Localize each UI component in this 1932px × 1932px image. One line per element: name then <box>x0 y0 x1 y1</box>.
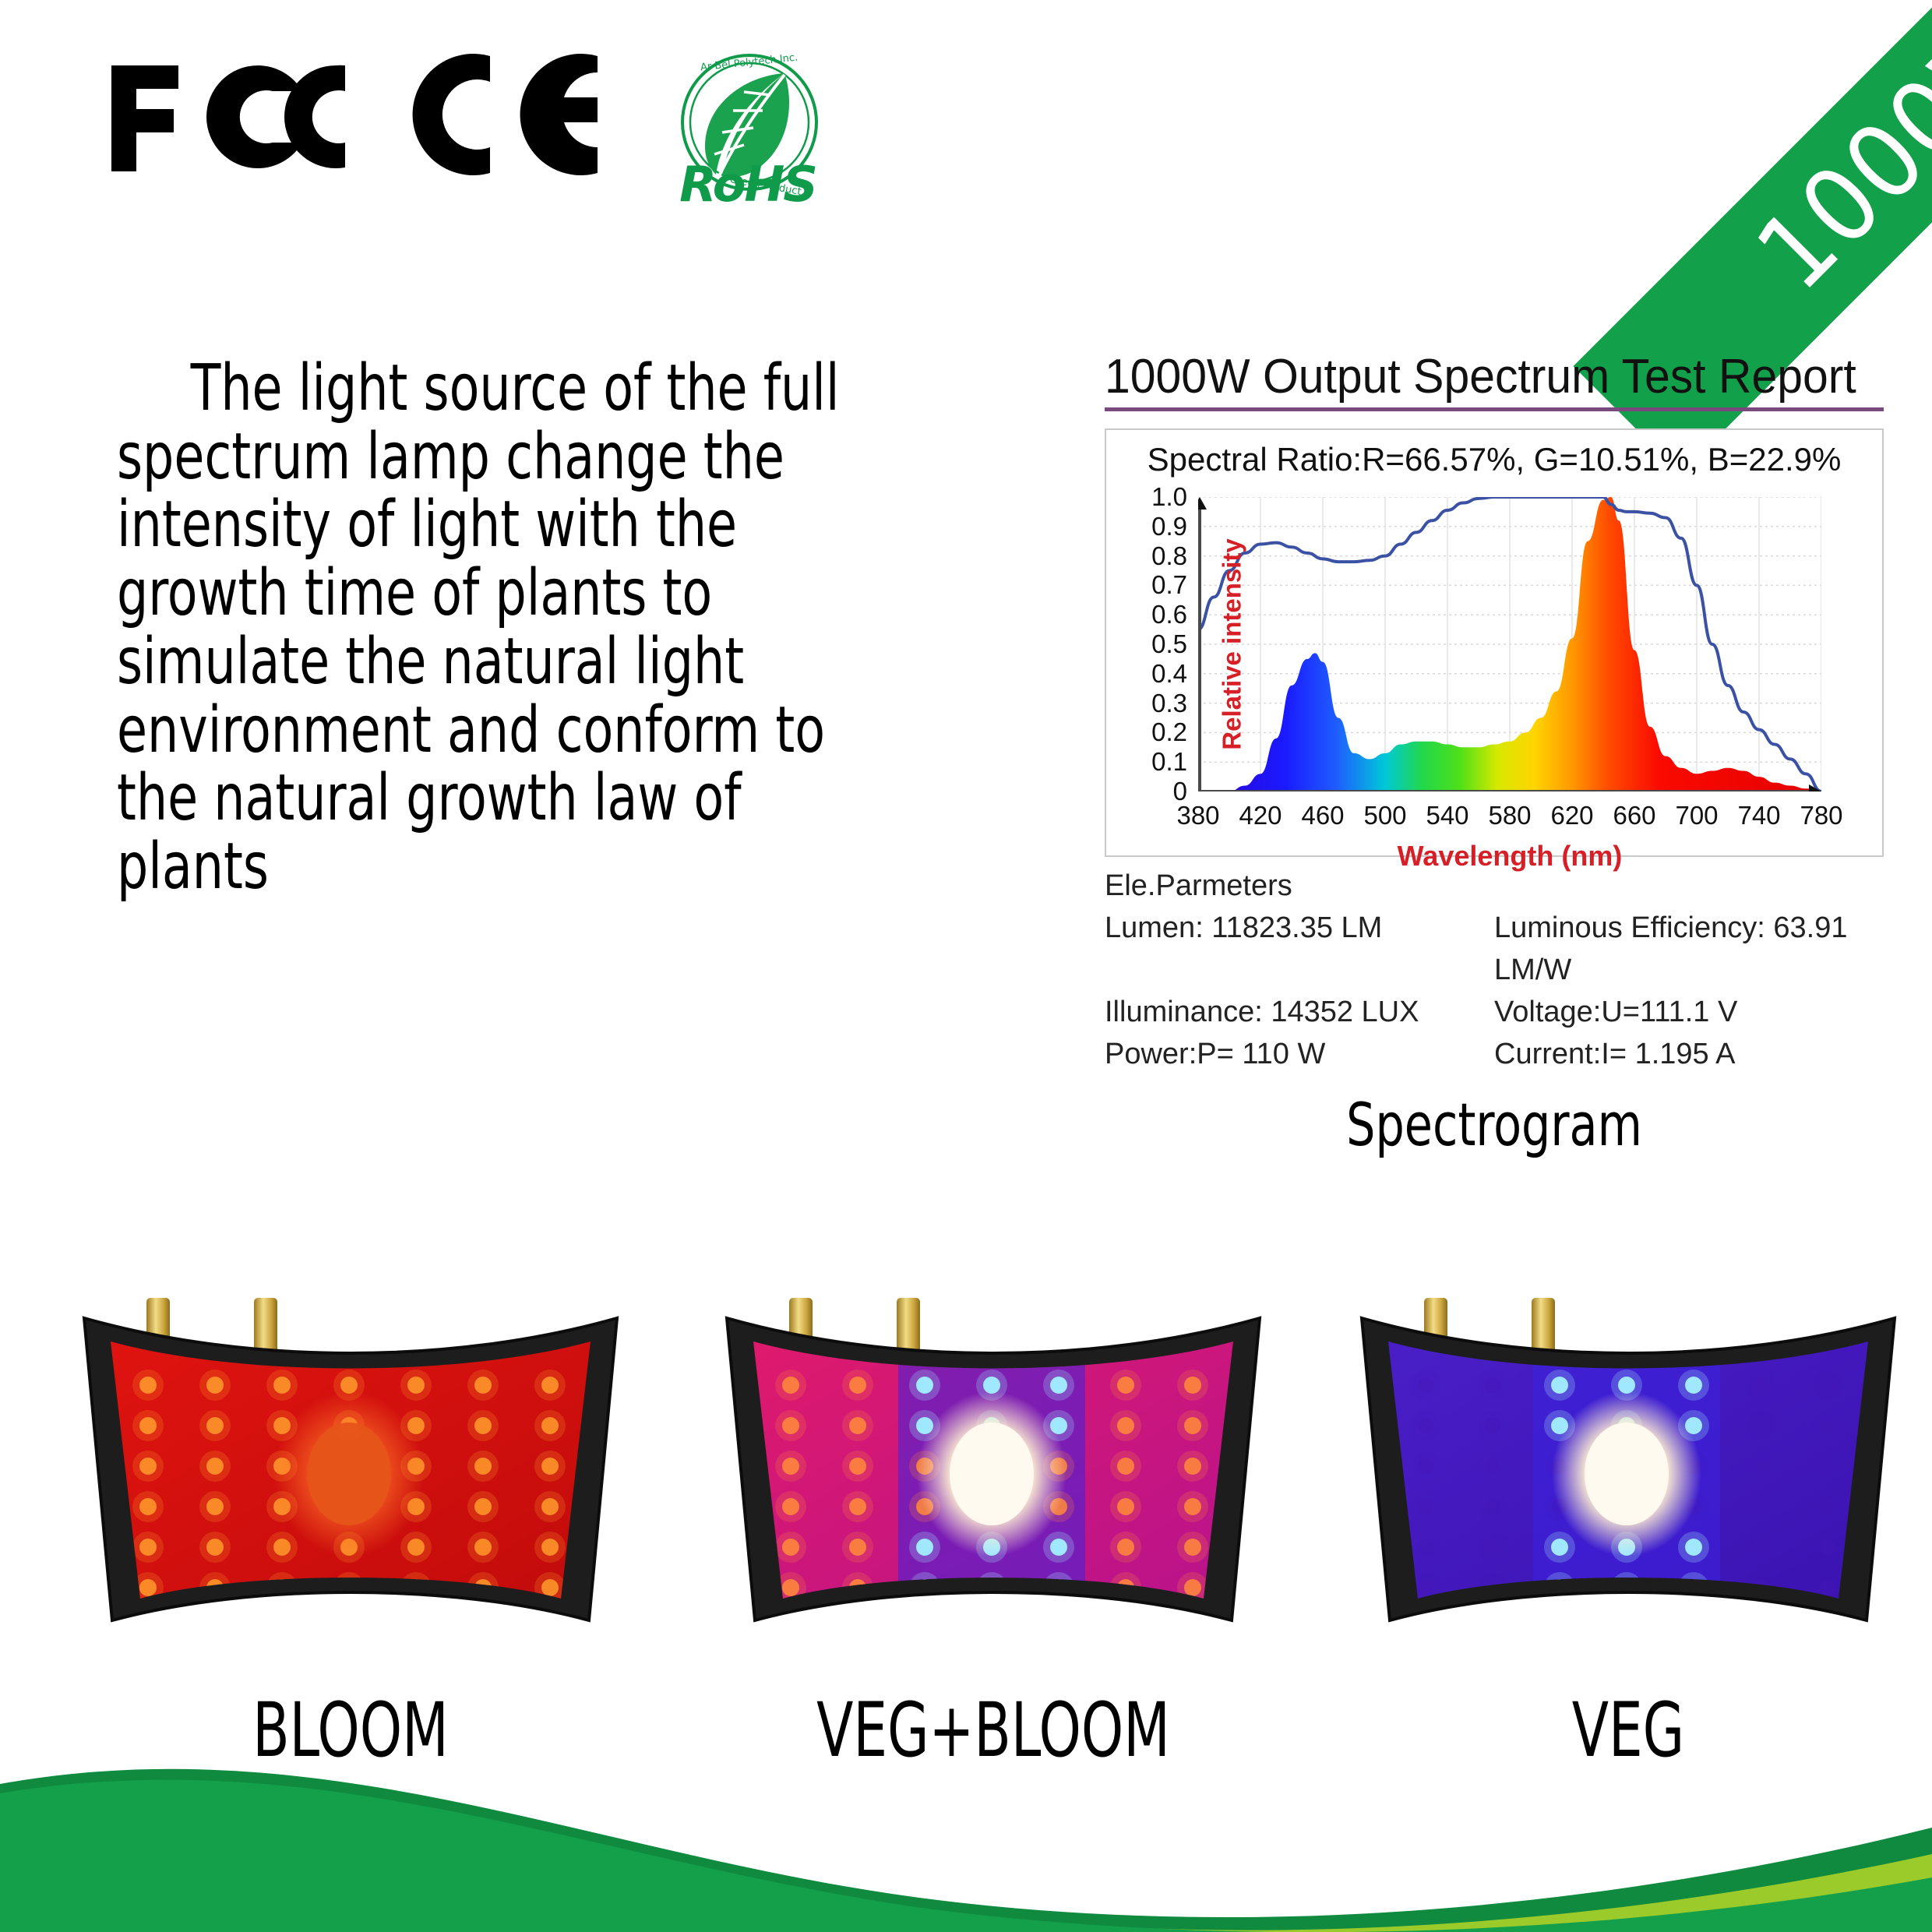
spectrogram-caption: Spectrogram <box>1159 1090 1829 1159</box>
x-tick-label: 460 <box>1301 801 1344 830</box>
ce-icon <box>398 48 608 181</box>
y-tick-label: 0.5 <box>1151 629 1187 659</box>
connector-pin <box>897 1298 920 1354</box>
y-tick-label: 0.3 <box>1151 689 1187 718</box>
footer-wave <box>0 1753 1932 1932</box>
y-axis-title: Relative intensity <box>1218 538 1247 749</box>
parameters-heading: Ele.Parmeters <box>1105 869 1884 903</box>
fcc-icon <box>105 48 347 181</box>
param-voltage: Voltage:U=111.1 V <box>1494 992 1884 1034</box>
parameter-row: Illuminance: 14352 LUX Voltage:U=111.1 V <box>1105 992 1884 1034</box>
description-paragraph: The light source of the full spectrum la… <box>117 354 908 901</box>
x-tick-label: 780 <box>1800 801 1842 830</box>
x-tick-label: 620 <box>1550 801 1593 830</box>
y-tick-label: 0.6 <box>1151 600 1187 629</box>
y-tick-label: 0.7 <box>1151 570 1187 600</box>
panel-veg-image <box>1340 1293 1916 1652</box>
x-tick-label: 380 <box>1176 801 1219 830</box>
description-text: The light source of the full spectrum la… <box>117 351 840 904</box>
chart-plot-area: Relative intensity Wavelength (nm) <box>1198 497 1821 791</box>
report-title: 1000W Output Spectrum Test Report <box>1105 349 1853 404</box>
param-power: Power:P= 110 W <box>1105 1034 1494 1076</box>
title-underline <box>1105 407 1884 411</box>
chart-svg <box>1198 497 1821 791</box>
panel-veg <box>1340 1293 1916 1652</box>
rohs-label: RoHS <box>666 156 830 213</box>
y-tick-label: 0.1 <box>1151 747 1187 777</box>
panel-veg-bloom <box>705 1293 1282 1652</box>
parameter-row: Lumen: 11823.35 LM Luminous Efficiency: … <box>1105 908 1884 992</box>
panel-bloom <box>62 1293 639 1652</box>
x-tick-label: 540 <box>1426 801 1468 830</box>
connector-pin <box>1532 1298 1555 1354</box>
x-tick-label: 740 <box>1737 801 1780 830</box>
y-tick-label: 0.4 <box>1151 659 1187 689</box>
param-current: Current:I= 1.195 A <box>1494 1034 1884 1076</box>
x-tick-label: 500 <box>1363 801 1406 830</box>
spectrum-chart: Spectral Ratio:R=66.57%, G=10.51%, B=22.… <box>1105 428 1884 857</box>
y-tick-label: 0.8 <box>1151 541 1187 571</box>
x-tick-label: 700 <box>1675 801 1718 830</box>
certification-logos: Ar Bel Polytech Inc. Green Product RoHS <box>105 48 839 208</box>
y-tick-label: 0.9 <box>1151 512 1187 541</box>
panel-veg-bloom-image <box>705 1293 1282 1652</box>
product-panel-row <box>0 1293 1932 1652</box>
y-tick-label: 0.2 <box>1151 717 1187 747</box>
ribbon-wattage-label: 1000W <box>1734 0 1932 313</box>
param-illuminance: Illuminance: 14352 LUX <box>1105 992 1494 1034</box>
electrical-parameters: Ele.Parmeters Lumen: 11823.35 LM Luminou… <box>1105 869 1884 1076</box>
x-tick-label: 420 <box>1239 801 1282 830</box>
infographic-page: 1000W <box>0 0 1932 1932</box>
x-axis-title: Wavelength (nm) <box>1398 840 1623 873</box>
panel-bloom-image <box>62 1293 639 1652</box>
y-tick-label: 1.0 <box>1151 482 1187 512</box>
param-efficiency: Luminous Efficiency: 63.91 LM/W <box>1494 908 1884 992</box>
rohs-icon: Ar Bel Polytech Inc. Green Product RoHS <box>660 48 839 208</box>
spectral-ratio-label: Spectral Ratio:R=66.57%, G=10.51%, B=22.… <box>1106 441 1882 478</box>
param-lumen: Lumen: 11823.35 LM <box>1105 908 1494 992</box>
spectrum-test-report: 1000W Output Spectrum Test Report Spectr… <box>1105 349 1891 1159</box>
connector-pin <box>254 1298 277 1354</box>
x-tick-label: 660 <box>1613 801 1655 830</box>
parameter-row: Power:P= 110 W Current:I= 1.195 A <box>1105 1034 1884 1076</box>
x-tick-label: 580 <box>1488 801 1531 830</box>
